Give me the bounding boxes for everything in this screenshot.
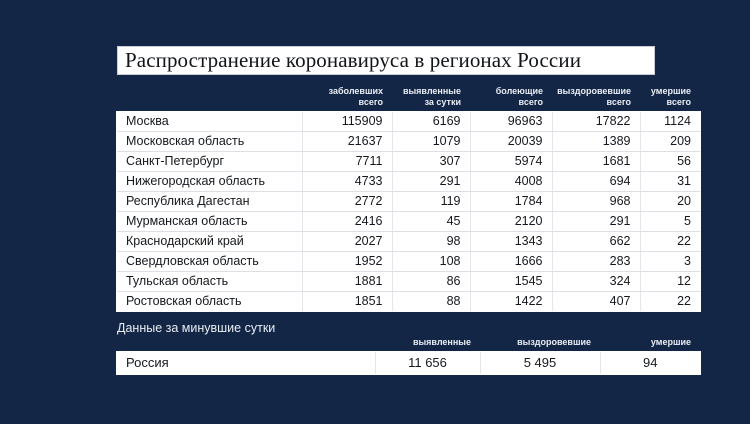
cell-recovered: 407 xyxy=(552,292,640,312)
cell-region: Ростовская область xyxy=(117,292,302,312)
cell-country: Россия xyxy=(117,352,375,374)
cell-recovered: 968 xyxy=(552,192,640,212)
cell-active: 5974 xyxy=(470,152,552,172)
daily-summary-table: выявленные выздоровевшие умершие Россия … xyxy=(117,337,700,374)
cell-recovered: 1389 xyxy=(552,132,640,152)
cell-deaths: 5 xyxy=(640,212,700,232)
cell-region: Республика Дагестан xyxy=(117,192,302,212)
cell-active: 1422 xyxy=(470,292,552,312)
col-header-recovered-total: выздоровевшие всего xyxy=(552,86,640,112)
cell-region: Московская область xyxy=(117,132,302,152)
cell-region: Москва xyxy=(117,112,302,132)
regions-table-body: Москва 115909 6169 96963 17822 1124 Моск… xyxy=(117,112,700,311)
table-row: Россия 11 656 5 495 94 xyxy=(117,352,700,374)
col-header-cases-day: выявленные xyxy=(375,337,480,352)
cell-region: Свердловская область xyxy=(117,252,302,272)
table-row: Мурманская область 2416 45 2120 291 5 xyxy=(117,212,700,232)
cell-deaths-day: 94 xyxy=(600,352,700,374)
cell-recovered: 17822 xyxy=(552,112,640,132)
table-row: Республика Дагестан 2772 119 1784 968 20 xyxy=(117,192,700,212)
cell-cases-day: 108 xyxy=(392,252,470,272)
cell-region: Краснодарский край xyxy=(117,232,302,252)
cell-active: 1343 xyxy=(470,232,552,252)
cell-active: 1666 xyxy=(470,252,552,272)
daily-summary-header: выявленные выздоровевшие умершие xyxy=(117,337,700,352)
table-row: Москва 115909 6169 96963 17822 1124 xyxy=(117,112,700,132)
col-header-active-total: болеющие всего xyxy=(470,86,552,112)
table-row: Московская область 21637 1079 20039 1389… xyxy=(117,132,700,152)
section-subheading: Данные за минувшие сутки xyxy=(117,321,275,335)
daily-summary-body: Россия 11 656 5 495 94 xyxy=(117,352,700,374)
cell-cases-total: 4733 xyxy=(302,172,392,192)
cell-cases-total: 115909 xyxy=(302,112,392,132)
cell-cases-day: 45 xyxy=(392,212,470,232)
table-row: Ростовская область 1851 88 1422 407 22 xyxy=(117,292,700,312)
cell-deaths: 1124 xyxy=(640,112,700,132)
cell-recovered: 324 xyxy=(552,272,640,292)
cell-recovered: 283 xyxy=(552,252,640,272)
cell-cases-day: 6169 xyxy=(392,112,470,132)
col-header-recovered-day: выздоровевшие xyxy=(480,337,600,352)
cell-deaths: 56 xyxy=(640,152,700,172)
cell-region: Тульская область xyxy=(117,272,302,292)
cell-recovered: 662 xyxy=(552,232,640,252)
table-row: Тульская область 1881 86 1545 324 12 xyxy=(117,272,700,292)
cell-region: Санкт-Петербург xyxy=(117,152,302,172)
cell-cases-total: 1851 xyxy=(302,292,392,312)
cell-deaths: 209 xyxy=(640,132,700,152)
cell-active: 96963 xyxy=(470,112,552,132)
cell-deaths: 12 xyxy=(640,272,700,292)
page-title-text: Распространение коронавируса в регионах … xyxy=(125,50,581,71)
cell-cases-day: 98 xyxy=(392,232,470,252)
cell-active: 1784 xyxy=(470,192,552,212)
table-row: Санкт-Петербург 7711 307 5974 1681 56 xyxy=(117,152,700,172)
cell-region: Мурманская область xyxy=(117,212,302,232)
cell-active: 20039 xyxy=(470,132,552,152)
daily-summary-header-row: выявленные выздоровевшие умершие xyxy=(117,337,700,352)
table-row: Нижегородская область 4733 291 4008 694 … xyxy=(117,172,700,192)
table-row: Свердловская область 1952 108 1666 283 3 xyxy=(117,252,700,272)
cell-recovered: 291 xyxy=(552,212,640,232)
cell-cases-day: 1079 xyxy=(392,132,470,152)
col-header-region xyxy=(117,86,302,112)
table-row: Краснодарский край 2027 98 1343 662 22 xyxy=(117,232,700,252)
cell-recovered: 1681 xyxy=(552,152,640,172)
cell-recovered: 694 xyxy=(552,172,640,192)
cell-cases-day: 86 xyxy=(392,272,470,292)
slide-canvas: Распространение коронавируса в регионах … xyxy=(0,0,750,424)
cell-cases-day: 88 xyxy=(392,292,470,312)
cell-active: 4008 xyxy=(470,172,552,192)
cell-deaths: 3 xyxy=(640,252,700,272)
cell-cases-total: 1881 xyxy=(302,272,392,292)
cell-active: 2120 xyxy=(470,212,552,232)
col-header-cases-day: выявленные за сутки xyxy=(392,86,470,112)
regions-table-container: заболевших всего выявленные за сутки бол… xyxy=(117,86,700,311)
cell-cases-day: 307 xyxy=(392,152,470,172)
cell-cases-day: 11 656 xyxy=(375,352,480,374)
col-header-country xyxy=(117,337,375,352)
col-header-deaths-day: умершие xyxy=(600,337,700,352)
regions-table-header: заболевших всего выявленные за сутки бол… xyxy=(117,86,700,112)
daily-summary-table-container: выявленные выздоровевшие умершие Россия … xyxy=(117,337,700,374)
cell-cases-total: 2027 xyxy=(302,232,392,252)
cell-deaths: 22 xyxy=(640,292,700,312)
cell-active: 1545 xyxy=(470,272,552,292)
page-title: Распространение коронавируса в регионах … xyxy=(117,46,655,75)
cell-deaths: 22 xyxy=(640,232,700,252)
cell-cases-total: 7711 xyxy=(302,152,392,172)
col-header-deaths-total: умершие всего xyxy=(640,86,700,112)
col-header-cases-total: заболевших всего xyxy=(302,86,392,112)
regions-header-row: заболевших всего выявленные за сутки бол… xyxy=(117,86,700,112)
cell-cases-day: 119 xyxy=(392,192,470,212)
regions-table: заболевших всего выявленные за сутки бол… xyxy=(117,86,700,311)
cell-region: Нижегородская область xyxy=(117,172,302,192)
cell-deaths: 31 xyxy=(640,172,700,192)
cell-cases-total: 1952 xyxy=(302,252,392,272)
cell-cases-day: 291 xyxy=(392,172,470,192)
cell-cases-total: 2416 xyxy=(302,212,392,232)
cell-deaths: 20 xyxy=(640,192,700,212)
cell-cases-total: 21637 xyxy=(302,132,392,152)
cell-recovered-day: 5 495 xyxy=(480,352,600,374)
cell-cases-total: 2772 xyxy=(302,192,392,212)
